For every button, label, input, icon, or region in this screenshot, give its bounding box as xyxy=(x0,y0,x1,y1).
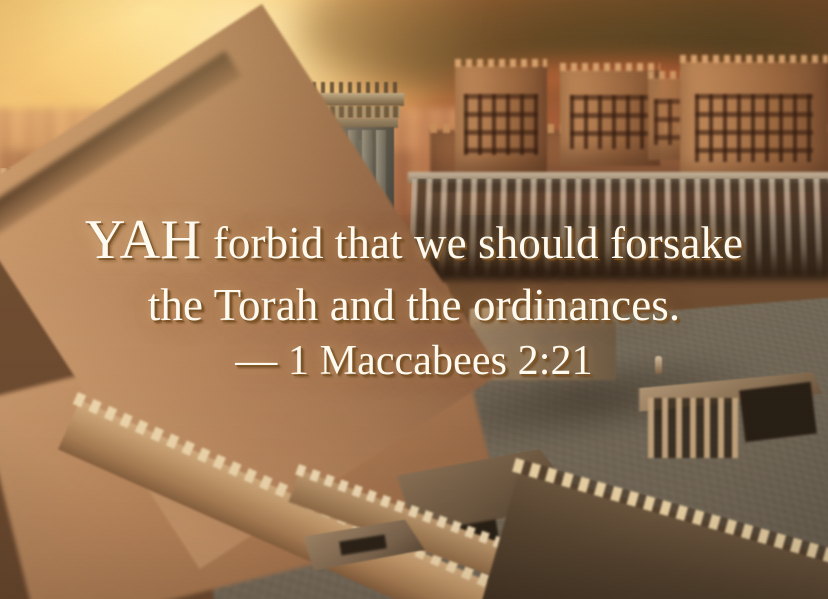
pavilion-3-columns xyxy=(648,398,738,458)
pavilion-3-opening xyxy=(739,382,817,442)
fortress-tower-2 xyxy=(560,70,660,166)
quote-image: YAH forbid that we should forsake the To… xyxy=(0,0,828,599)
tower-crenellations xyxy=(680,55,828,63)
tower-windows xyxy=(464,94,538,154)
tower-crenellations xyxy=(560,63,660,71)
tower-windows xyxy=(695,94,813,162)
fortress-tower-1 xyxy=(455,66,547,174)
portico-shadow xyxy=(408,200,828,280)
tiny-human-figure-on-wall xyxy=(655,356,662,374)
tower-windows xyxy=(570,95,650,149)
tower-crenellations xyxy=(455,59,547,67)
fortress-tower-4 xyxy=(680,62,828,184)
